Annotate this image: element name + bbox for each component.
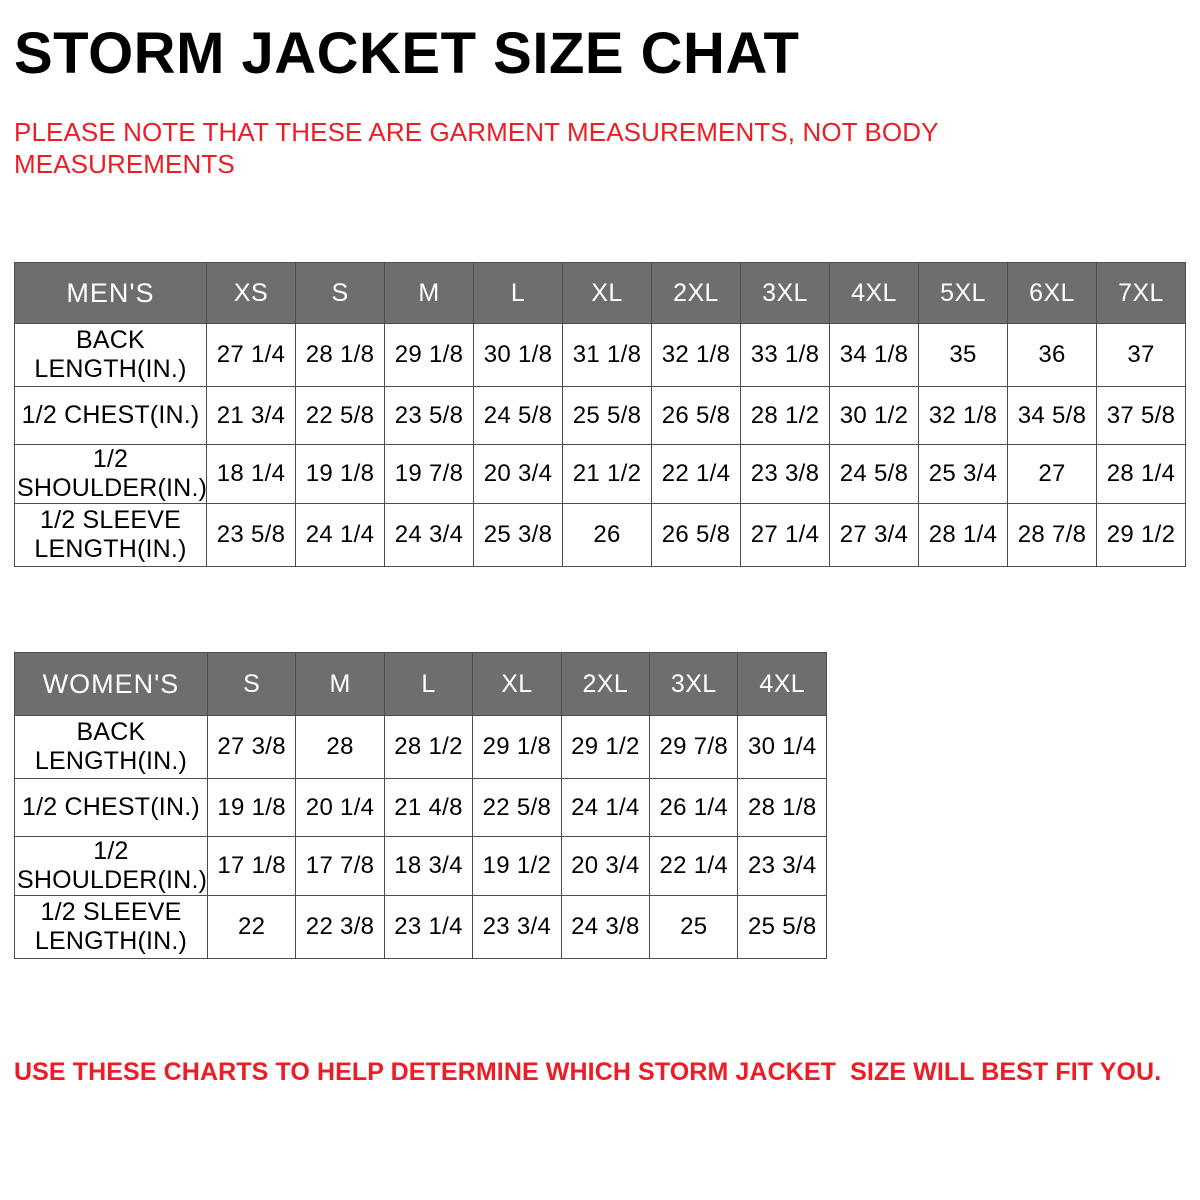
cell: 37 5/8: [1097, 387, 1186, 445]
cell: 28 1/8: [296, 324, 385, 387]
mens-col-header-3xl: 3XL: [741, 263, 830, 324]
cell: 30 1/8: [474, 324, 563, 387]
cell: 17 7/8: [296, 837, 384, 896]
mens-table-corner-label: MEN'S: [15, 263, 207, 324]
womens-row-label-half-shoulder: 1/2 SHOULDER(IN.): [15, 837, 208, 896]
cell: 27 1/4: [741, 504, 830, 567]
cell: 24 5/8: [474, 387, 563, 445]
cell: 21 1/2: [563, 445, 652, 504]
table-row: 1/2 SLEEVE LENGTH(IN.) 22 22 3/8 23 1/4 …: [15, 896, 827, 959]
footer-note: USE THESE CHARTS TO HELP DETERMINE WHICH…: [14, 1057, 1174, 1087]
cell: 37: [1097, 324, 1186, 387]
cell: 28 1/4: [919, 504, 1008, 567]
cell: 34 1/8: [830, 324, 919, 387]
cell: 25 5/8: [563, 387, 652, 445]
label-line-1: 1/2 SLEEVE: [40, 506, 181, 534]
cell: 26 5/8: [652, 387, 741, 445]
cell: 18 1/4: [207, 445, 296, 504]
page-title: STORM JACKET SIZE CHAT: [14, 22, 799, 86]
mens-col-header-5xl: 5XL: [919, 263, 1008, 324]
label-line-1: 1/2 SLEEVE: [40, 898, 181, 926]
mens-row-label-half-sleeve-length: 1/2 SLEEVE LENGTH(IN.): [15, 504, 207, 567]
cell: 29 1/2: [1097, 504, 1186, 567]
size-chart-page: STORM JACKET SIZE CHAT PLEASE NOTE THAT …: [0, 0, 1200, 1200]
cell: 32 1/8: [919, 387, 1008, 445]
cell: 25: [650, 896, 738, 959]
cell: 31 1/8: [563, 324, 652, 387]
table-row: BACK LENGTH(IN.) 27 3/8 28 28 1/2 29 1/8…: [15, 716, 827, 779]
cell: 24 1/4: [296, 504, 385, 567]
cell: 36: [1008, 324, 1097, 387]
cell: 23 3/4: [738, 837, 827, 896]
cell: 32 1/8: [652, 324, 741, 387]
cell: 20 3/4: [561, 837, 649, 896]
cell: 27 1/4: [207, 324, 296, 387]
womens-col-header-xl: XL: [473, 653, 561, 716]
cell: 22 1/4: [652, 445, 741, 504]
mens-col-header-s: S: [296, 263, 385, 324]
womens-table-head: WOMEN'S S M L XL 2XL 3XL 4XL: [15, 653, 827, 716]
mens-col-header-2xl: 2XL: [652, 263, 741, 324]
mens-col-header-m: M: [385, 263, 474, 324]
table-row: 1/2 SLEEVE LENGTH(IN.) 23 5/8 24 1/4 24 …: [15, 504, 1186, 567]
cell: 19 1/8: [296, 445, 385, 504]
cell: 23 3/8: [741, 445, 830, 504]
cell: 18 3/4: [384, 837, 472, 896]
cell: 20 3/4: [474, 445, 563, 504]
cell: 28 1/4: [1097, 445, 1186, 504]
cell: 30 1/4: [738, 716, 827, 779]
cell: 29 1/2: [561, 716, 649, 779]
cell: 27 3/4: [830, 504, 919, 567]
mens-col-header-6xl: 6XL: [1008, 263, 1097, 324]
label-line-2: LENGTH(IN.): [34, 535, 186, 563]
cell: 21 3/4: [207, 387, 296, 445]
mens-col-header-7xl: 7XL: [1097, 263, 1186, 324]
cell: 27: [1008, 445, 1097, 504]
cell: 26 5/8: [652, 504, 741, 567]
cell: 19 1/8: [207, 779, 295, 837]
womens-row-label-back-length: BACK LENGTH(IN.): [15, 716, 208, 779]
cell: 28 1/2: [741, 387, 830, 445]
cell: 24 3/8: [561, 896, 649, 959]
mens-row-label-back-length: BACK LENGTH(IN.): [15, 324, 207, 387]
cell: 23 3/4: [473, 896, 561, 959]
cell: 28: [296, 716, 384, 779]
mens-row-label-half-shoulder: 1/2 SHOULDER(IN.): [15, 445, 207, 504]
womens-row-label-half-sleeve-length: 1/2 SLEEVE LENGTH(IN.): [15, 896, 208, 959]
cell: 23 1/4: [384, 896, 472, 959]
mens-col-header-xl: XL: [563, 263, 652, 324]
mens-col-header-l: L: [474, 263, 563, 324]
cell: 25 3/4: [919, 445, 1008, 504]
cell: 28 1/8: [738, 779, 827, 837]
cell: 29 1/8: [473, 716, 561, 779]
cell: 25 5/8: [738, 896, 827, 959]
table-row: 1/2 SHOULDER(IN.) 18 1/4 19 1/8 19 7/8 2…: [15, 445, 1186, 504]
cell: 34 5/8: [1008, 387, 1097, 445]
table-row: BACK LENGTH(IN.) 27 1/4 28 1/8 29 1/8 30…: [15, 324, 1186, 387]
cell: 17 1/8: [207, 837, 295, 896]
cell: 20 1/4: [296, 779, 384, 837]
cell: 22 1/4: [650, 837, 738, 896]
label-line-2: LENGTH(IN.): [35, 747, 187, 775]
cell: 30 1/2: [830, 387, 919, 445]
womens-table-body: BACK LENGTH(IN.) 27 3/8 28 28 1/2 29 1/8…: [15, 716, 827, 959]
label-line-2: LENGTH(IN.): [34, 355, 186, 383]
womens-col-header-m: M: [296, 653, 384, 716]
mens-row-label-half-chest: 1/2 CHEST(IN.): [15, 387, 207, 445]
cell: 28 1/2: [384, 716, 472, 779]
mens-size-table: MEN'S XS S M L XL 2XL 3XL 4XL 5XL 6XL 7X…: [14, 262, 1186, 567]
cell: 26 1/4: [650, 779, 738, 837]
cell: 35: [919, 324, 1008, 387]
womens-col-header-4xl: 4XL: [738, 653, 827, 716]
cell: 23 5/8: [385, 387, 474, 445]
womens-row-label-half-chest: 1/2 CHEST(IN.): [15, 779, 208, 837]
womens-table-corner-label: WOMEN'S: [15, 653, 208, 716]
womens-col-header-3xl: 3XL: [650, 653, 738, 716]
cell: 19 7/8: [385, 445, 474, 504]
cell: 22: [207, 896, 295, 959]
cell: 22 5/8: [296, 387, 385, 445]
cell: 21 4/8: [384, 779, 472, 837]
cell: 29 7/8: [650, 716, 738, 779]
label-line-2: LENGTH(IN.): [35, 927, 187, 955]
cell: 19 1/2: [473, 837, 561, 896]
womens-col-header-l: L: [384, 653, 472, 716]
garment-measurement-note: PLEASE NOTE THAT THESE ARE GARMENT MEASU…: [14, 116, 974, 180]
cell: 23 5/8: [207, 504, 296, 567]
cell: 24 5/8: [830, 445, 919, 504]
mens-col-header-xs: XS: [207, 263, 296, 324]
cell: 24 3/4: [385, 504, 474, 567]
label-line-1: BACK: [76, 326, 145, 354]
cell: 29 1/8: [385, 324, 474, 387]
mens-header-row: MEN'S XS S M L XL 2XL 3XL 4XL 5XL 6XL 7X…: [15, 263, 1186, 324]
table-row: 1/2 CHEST(IN.) 19 1/8 20 1/4 21 4/8 22 5…: [15, 779, 827, 837]
cell: 33 1/8: [741, 324, 830, 387]
cell: 22 5/8: [473, 779, 561, 837]
cell: 25 3/8: [474, 504, 563, 567]
womens-col-header-2xl: 2XL: [561, 653, 649, 716]
cell: 22 3/8: [296, 896, 384, 959]
womens-header-row: WOMEN'S S M L XL 2XL 3XL 4XL: [15, 653, 827, 716]
mens-table-body: BACK LENGTH(IN.) 27 1/4 28 1/8 29 1/8 30…: [15, 324, 1186, 567]
table-row: 1/2 CHEST(IN.) 21 3/4 22 5/8 23 5/8 24 5…: [15, 387, 1186, 445]
womens-size-table: WOMEN'S S M L XL 2XL 3XL 4XL BACK LENGTH…: [14, 652, 827, 959]
table-row: 1/2 SHOULDER(IN.) 17 1/8 17 7/8 18 3/4 1…: [15, 837, 827, 896]
cell: 27 3/8: [207, 716, 295, 779]
mens-table-head: MEN'S XS S M L XL 2XL 3XL 4XL 5XL 6XL 7X…: [15, 263, 1186, 324]
cell: 28 7/8: [1008, 504, 1097, 567]
womens-col-header-s: S: [207, 653, 295, 716]
cell: 24 1/4: [561, 779, 649, 837]
cell: 26: [563, 504, 652, 567]
mens-col-header-4xl: 4XL: [830, 263, 919, 324]
label-line-1: BACK: [77, 718, 146, 746]
